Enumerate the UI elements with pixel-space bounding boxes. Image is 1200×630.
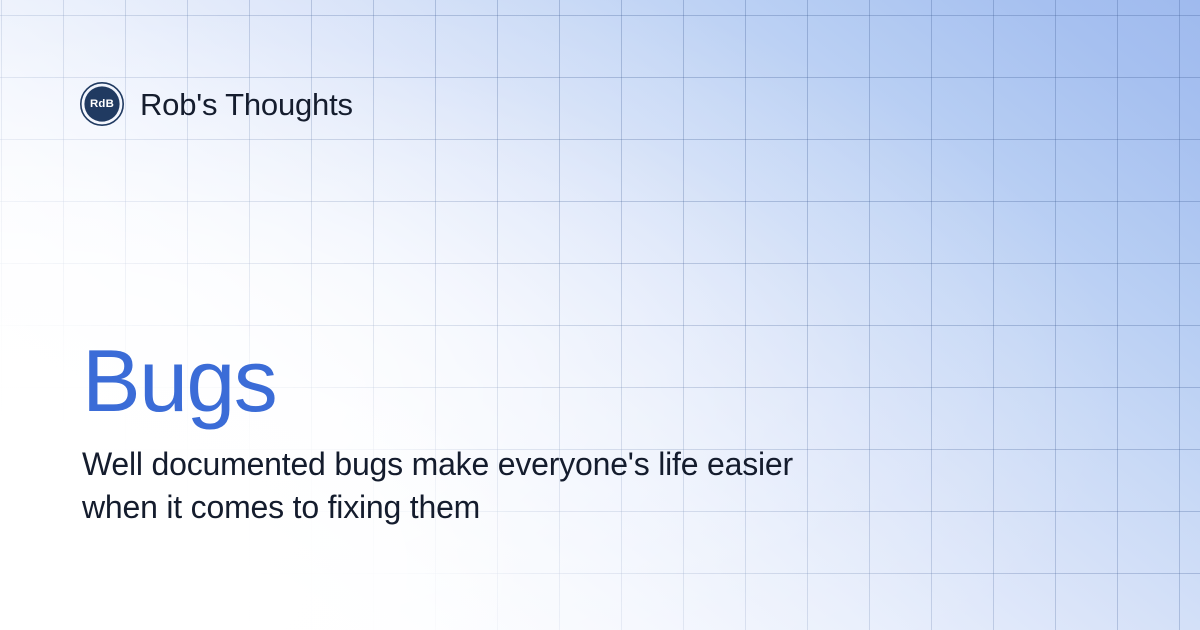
svg-text:RdB: RdB xyxy=(90,98,114,110)
rdb-monogram-icon: RdB xyxy=(80,82,124,126)
page-title: Bugs xyxy=(82,335,982,427)
brand-header: RdB Rob's Thoughts xyxy=(80,82,353,126)
og-card: RdB Rob's Thoughts Bugs Well documented … xyxy=(0,0,1200,630)
page-subtitle: Well documented bugs make everyone's lif… xyxy=(82,443,872,527)
content-block: Bugs Well documented bugs make everyone'… xyxy=(82,335,982,528)
brand-name: Rob's Thoughts xyxy=(140,89,353,120)
